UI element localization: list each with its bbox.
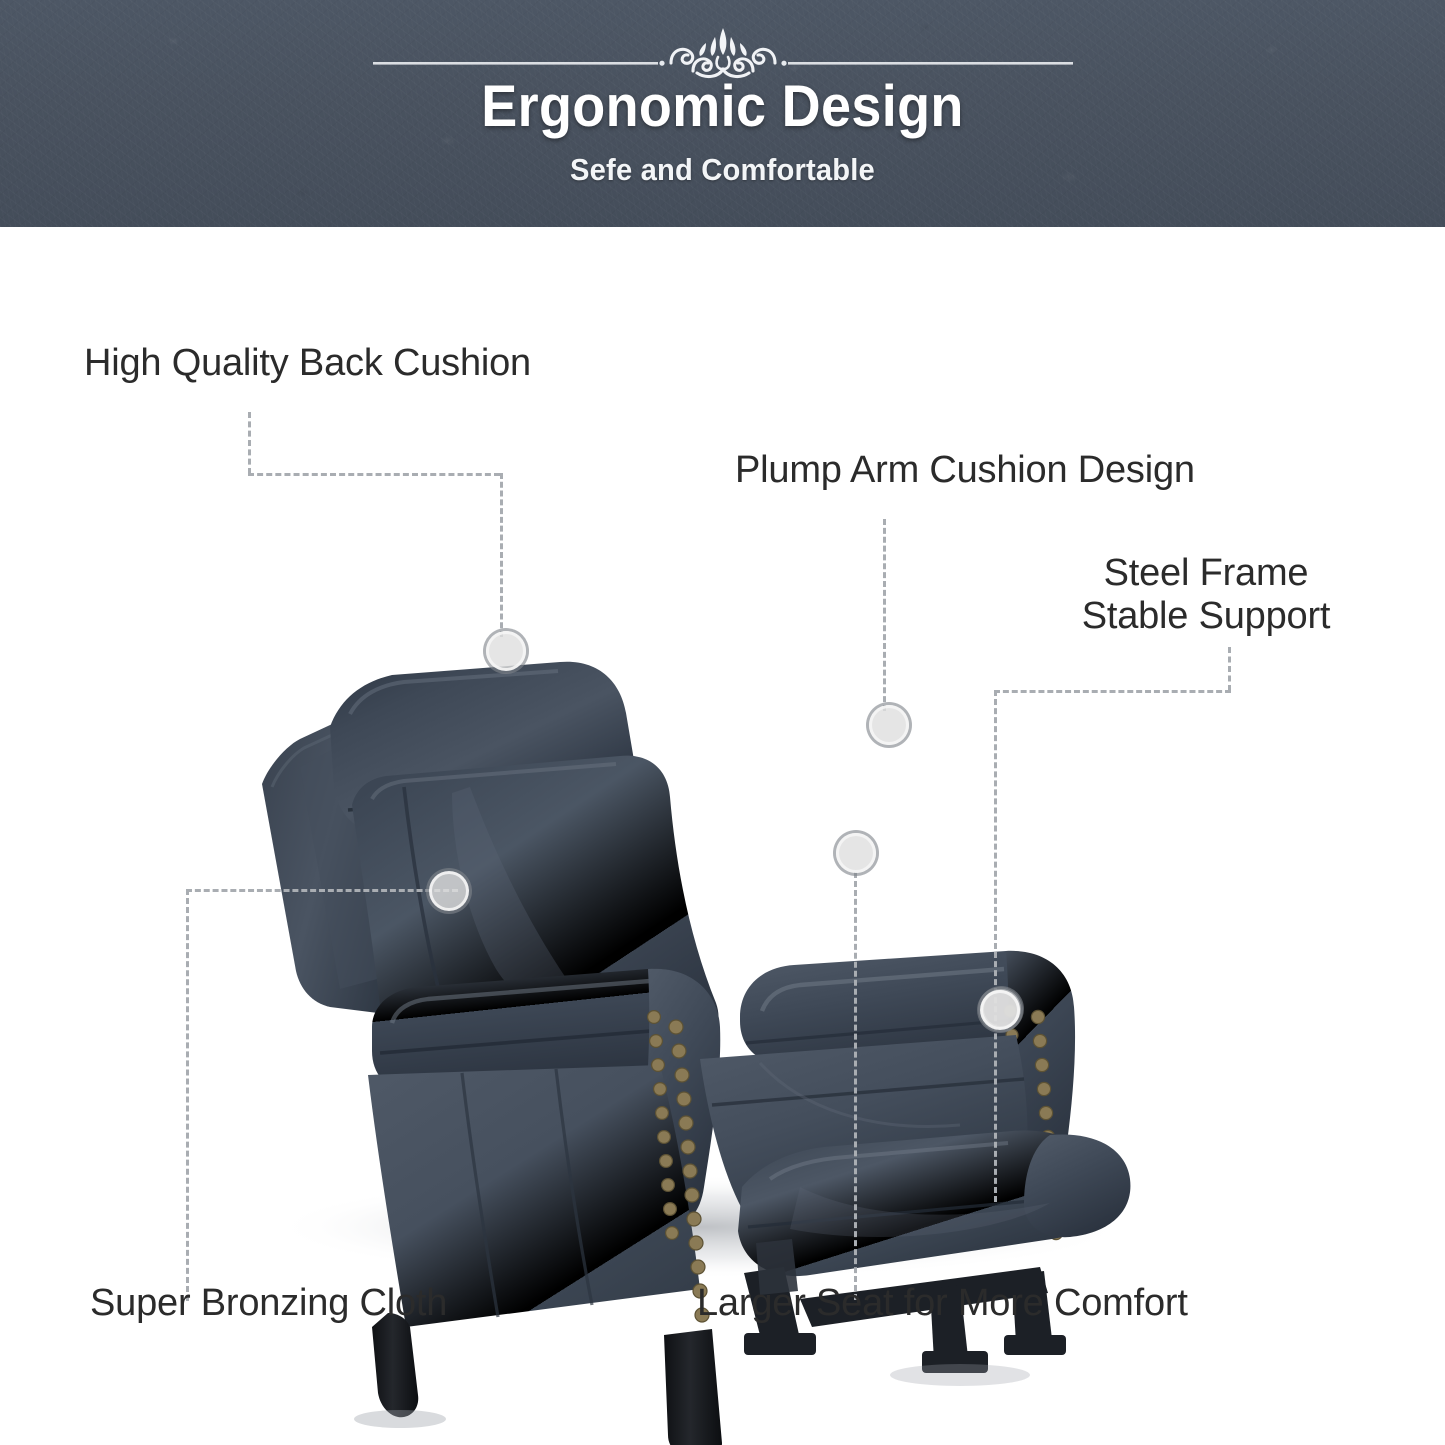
leader-steel-frame-v2	[994, 690, 997, 1202]
marker-footrest-frame[interactable]	[980, 990, 1020, 1030]
header-banner: Ergonomic Design Sefe and Comfortable	[0, 0, 1445, 227]
product-image-recliner	[0, 227, 1445, 1445]
callout-label-back-cushion: High Quality Back Cushion	[84, 342, 531, 385]
page-title: Ergonomic Design	[51, 78, 1395, 136]
leader-bronzing-h	[186, 889, 458, 892]
callout-label-arm-cushion: Plump Arm Cushion Design	[735, 449, 1195, 492]
callout-label-steel-frame-line1: Steel Frame	[1050, 552, 1362, 595]
leader-back-cushion-v2	[500, 473, 503, 637]
leader-larger-seat-v	[854, 872, 857, 1300]
page-subtitle: Sefe and Comfortable	[43, 152, 1401, 188]
leader-steel-frame-v1	[1228, 647, 1231, 691]
leader-bronzing-v	[186, 889, 189, 1301]
leader-arm-cushion-v	[883, 519, 886, 711]
callout-label-steel-frame-line2: Stable Support	[1050, 595, 1362, 638]
callout-label-larger-seat: Larger Seat for More Comfort	[697, 1282, 1188, 1325]
marker-back-cushion[interactable]	[486, 631, 526, 671]
leader-back-cushion-h	[248, 473, 500, 476]
marker-arm-cushion[interactable]	[869, 705, 909, 745]
callout-label-bronzing-cloth: Super Bronzing Cloth	[90, 1282, 447, 1325]
leader-back-cushion-v1	[248, 412, 251, 474]
callout-label-steel-frame: Steel Frame Stable Support	[1050, 552, 1362, 638]
marker-bronzing-cloth[interactable]	[429, 871, 469, 911]
leader-steel-frame-h	[994, 690, 1231, 693]
marker-larger-seat[interactable]	[836, 833, 876, 873]
infographic-content: High Quality Back Cushion Plump Arm Cush…	[0, 227, 1445, 1445]
